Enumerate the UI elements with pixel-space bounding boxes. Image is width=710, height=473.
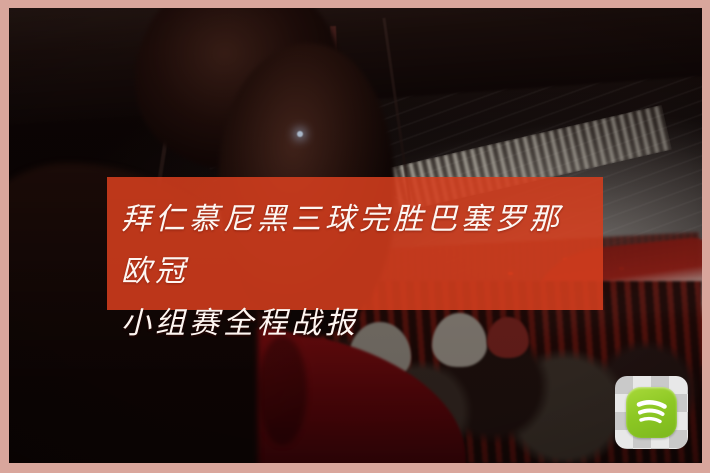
title-banner: 拜仁慕尼黑三球完胜巴塞罗那欧冠 小组赛全程战报: [107, 177, 603, 310]
image-frame: 拜仁慕尼黑三球完胜巴塞罗那欧冠 小组赛全程战报: [0, 0, 710, 473]
banner-title-text: 拜仁慕尼黑三球完胜巴塞罗那欧冠 小组赛全程战报: [121, 194, 595, 350]
jersey-fold: [258, 336, 307, 445]
light-flare-spark: [297, 131, 303, 137]
spotify-app-icon[interactable]: [615, 376, 688, 449]
spotify-glyph-tile: [626, 387, 677, 438]
stadium-photo: 拜仁慕尼黑三球完胜巴塞罗那欧冠 小组赛全程战报: [9, 8, 702, 463]
